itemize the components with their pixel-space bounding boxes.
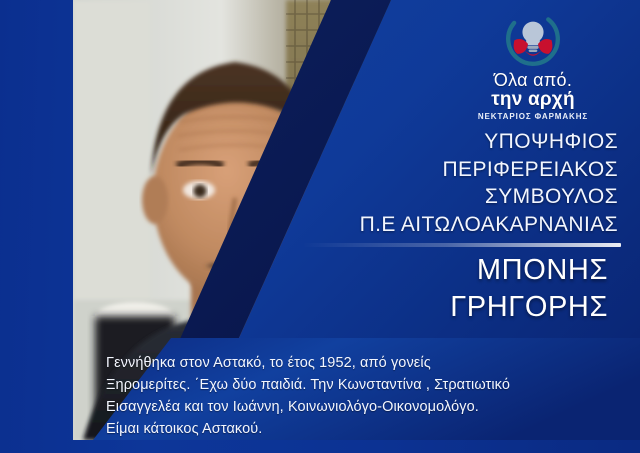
poster-content-panel: Όλα από. την αρχή ΝΕΚΤΑΡΙΟΣ ΦΑΡΜΑΚΗΣ ΥΠΟ… xyxy=(73,0,640,440)
bio-line-4: Είμαι κάτοικος Αστακού. xyxy=(106,418,626,440)
bio-line-2: Ξηρομερίτες. ΄Εχω δύο παιδιά. Την Κωνστα… xyxy=(106,374,626,396)
logo-tagline-bold: την αρχή xyxy=(468,90,598,110)
campaign-poster: Όλα από. την αρχή ΝΕΚΤΑΡΙΟΣ ΦΑΡΜΑΚΗΣ ΥΠΟ… xyxy=(0,0,640,453)
panel-bottom-strip xyxy=(73,440,640,453)
role-line-1: ΥΠΟΨΗΦΙΟΣ xyxy=(198,128,618,156)
candidate-role-block: ΥΠΟΨΗΦΙΟΣ ΠΕΡΙΦΕΡΕΙΑΚΟΣ ΣΥΜΒΟΥΛΟΣ Π.Ε ΑΙ… xyxy=(198,128,618,239)
candidate-name-block: ΜΠΟΝΗΣ ΓΡΗΓΟΡΗΣ xyxy=(188,252,608,326)
bio-line-3: Εισαγγελέα και τον Ιωάννη, Κοινωνιολόγο-… xyxy=(106,396,626,418)
candidate-firstname: ΓΡΗΓΟΡΗΣ xyxy=(188,289,608,326)
logo-tagline-light: Όλα από. xyxy=(468,71,598,90)
campaign-logo-block: Όλα από. την αρχή ΝΕΚΤΑΡΙΟΣ ΦΑΡΜΑΚΗΣ xyxy=(468,8,598,121)
role-line-2: ΠΕΡΙΦΕΡΕΙΑΚΟΣ xyxy=(198,156,618,184)
logo-party-leader-name: ΝΕΚΤΑΡΙΟΣ ΦΑΡΜΑΚΗΣ xyxy=(468,112,598,121)
bio-line-1: Γεννήθηκα στον Αστακό, το έτος 1952, από… xyxy=(106,352,626,374)
lightbulb-hands-logo-icon xyxy=(502,8,564,70)
role-line-3: ΣΥΜΒΟΥΛΟΣ xyxy=(198,183,618,211)
role-line-4: Π.Ε ΑΙΤΩΛΟΑΚΑΡΝΑΝΙΑΣ xyxy=(198,211,618,239)
section-divider xyxy=(303,243,621,247)
candidate-surname: ΜΠΟΝΗΣ xyxy=(188,252,608,289)
candidate-biography: Γεννήθηκα στον Αστακό, το έτος 1952, από… xyxy=(106,352,626,440)
